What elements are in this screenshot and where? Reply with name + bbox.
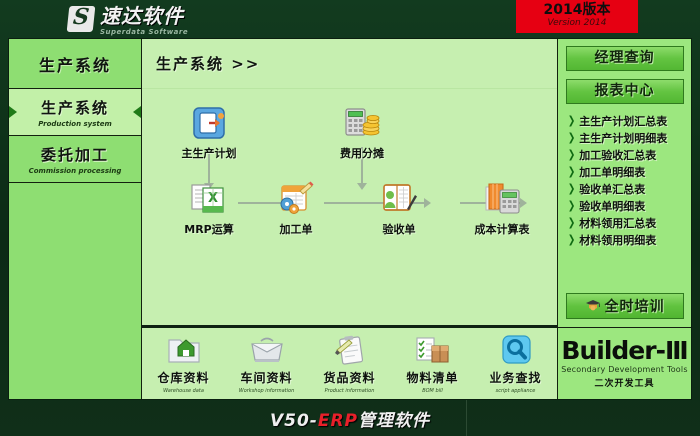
report-link-acceptance-detail[interactable]: ❯ 验收单明细表: [567, 197, 685, 214]
flow-node-label: 费用分摊: [320, 145, 404, 161]
flow-node-label: 主生产计划: [167, 145, 251, 161]
training-section: 全时培训: [558, 285, 691, 327]
sidebar: 生产系统 生产系统 Production system 委托加工 Commiss…: [9, 39, 142, 399]
builder-title: Builder-Ⅲ: [561, 338, 687, 364]
quick-item-label-en: BOM bill: [394, 388, 472, 394]
work-order-icon: [276, 179, 316, 219]
quick-item-label-en: Warehouse data: [145, 388, 223, 394]
flow-node-label: 加工单: [254, 221, 338, 237]
magnifier-search-icon: [498, 334, 534, 366]
bullet-icon: ❯: [568, 114, 575, 127]
sidebar-item-label-cn: 生产系统: [41, 97, 109, 118]
sidebar-header: 生产系统: [9, 39, 141, 89]
quick-access-bar: 仓库资料 Warehouse data 车间资料 Workshop inform…: [142, 325, 557, 399]
page-title: 生产系统 >>: [142, 39, 557, 89]
quick-item-label-cn: 车间资料: [228, 369, 306, 386]
content-area: 生产系统 >>: [142, 39, 558, 399]
quick-item-warehouse-data[interactable]: 仓库资料 Warehouse data: [145, 334, 223, 394]
product-name-suffix: 管理软件: [358, 411, 430, 431]
quick-item-workshop-information[interactable]: 车间资料 Workshop information: [228, 334, 306, 394]
quick-item-bom-bill[interactable]: 物料清单 BOM bill: [394, 334, 472, 394]
product-name-accent: ERP: [318, 411, 358, 431]
main-frame: 生产系统 生产系统 Production system 委托加工 Commiss…: [8, 38, 692, 400]
builder-promo[interactable]: Builder-Ⅲ Secondary Development Tools 二次…: [558, 327, 691, 399]
footer-bar: V50-ERP管理软件: [0, 400, 700, 436]
flow-node-master-production-plan[interactable]: 主生产计划: [167, 103, 251, 161]
selection-arrow-left-icon: [9, 106, 17, 118]
product-name-prefix: V50-: [270, 411, 318, 431]
plan-document-icon: [189, 103, 229, 143]
bullet-icon: ❯: [568, 131, 575, 144]
bullet-icon: ❯: [568, 199, 575, 212]
quick-item-business-search[interactable]: 业务查找 script appliance: [477, 334, 555, 394]
builder-subtitle-en: Secondary Development Tools: [561, 365, 687, 374]
sidebar-item-label-en: Production system: [38, 120, 112, 128]
sidebar-header-label: 生产系统: [39, 52, 111, 76]
report-link-label: 加工验收汇总表: [579, 147, 656, 163]
quick-item-product-information[interactable]: 货品资料 Product information: [311, 334, 389, 394]
quick-item-label-en: script appliance: [477, 388, 555, 394]
flow-node-acceptance-note[interactable]: 验收单: [357, 179, 441, 237]
logo-text-cn: 速达软件: [100, 6, 188, 26]
flow-node-work-order[interactable]: 加工单: [254, 179, 338, 237]
bullet-icon: ❯: [568, 148, 575, 161]
quick-item-label-cn: 仓库资料: [145, 369, 223, 386]
flow-node-label: 验收单: [357, 221, 441, 237]
report-link-material-requisition-detail[interactable]: ❯ 材料领用明细表: [567, 231, 685, 248]
sidebar-item-commission-processing[interactable]: 委托加工 Commission processing: [9, 136, 141, 183]
training-button-label: 全时培训: [605, 296, 665, 316]
workflow-diagram: 主生产计划: [142, 89, 557, 325]
cost-sheet-icon: [482, 179, 522, 219]
graduation-cap-icon: [585, 298, 601, 314]
right-panel: 经理查询 报表中心 ❯ 主生产计划汇总表 ❯ 主生产计划明细表 ❯ 加工验收汇总…: [558, 39, 691, 399]
flow-node-cost-sheet[interactable]: 成本计算表: [460, 179, 544, 237]
warehouse-folder-icon: [166, 334, 202, 366]
clipboard-pen-icon: [332, 334, 368, 366]
report-link-master-plan-summary[interactable]: ❯ 主生产计划汇总表: [567, 112, 685, 129]
app-logo: 速达软件 Superdata Software: [68, 6, 188, 36]
superdata-logo-icon: [67, 6, 96, 32]
version-label-en: Version 2014: [516, 18, 638, 29]
bullet-icon: ❯: [568, 233, 575, 246]
sidebar-item-label-cn: 委托加工: [41, 144, 109, 165]
version-label-cn: 2014版本: [516, 3, 638, 18]
report-link-label: 加工单明细表: [579, 164, 645, 180]
report-link-label: 验收单汇总表: [579, 181, 645, 197]
product-name: V50-ERP管理软件: [270, 406, 430, 431]
sidebar-item-production-system[interactable]: 生产系统 Production system: [9, 89, 141, 136]
flow-node-mrp-calculation[interactable]: X MRP运算: [167, 179, 251, 237]
report-list: ❯ 主生产计划汇总表 ❯ 主生产计划明细表 ❯ 加工验收汇总表 ❯ 加工单明细表: [564, 112, 685, 248]
report-link-processing-acceptance-summary[interactable]: ❯ 加工验收汇总表: [567, 146, 685, 163]
quick-item-label-cn: 业务查找: [477, 369, 555, 386]
bom-checklist-icon: [415, 334, 451, 366]
report-link-master-plan-detail[interactable]: ❯ 主生产计划明细表: [567, 129, 685, 146]
erp-home-screen: 速达软件 Superdata Software 2014版本 Version 2…: [0, 0, 700, 436]
quick-item-label-en: Product information: [311, 388, 389, 394]
logo-text-en: Superdata Software: [100, 28, 188, 36]
selection-arrow-right-icon: [133, 106, 141, 118]
report-link-label: 材料领用明细表: [579, 232, 656, 248]
flow-node-label: MRP运算: [167, 221, 251, 237]
flow-node-label: 成本计算表: [460, 221, 544, 237]
manager-query-button[interactable]: 经理查询: [566, 46, 684, 71]
page-title-label: 生产系统 >>: [156, 53, 260, 74]
report-link-label: 验收单明细表: [579, 198, 645, 214]
report-link-label: 主生产计划明细表: [579, 130, 667, 146]
report-link-work-order-detail[interactable]: ❯ 加工单明细表: [567, 163, 685, 180]
quick-item-label-en: Workshop information: [228, 388, 306, 394]
right-panel-top: 经理查询 报表中心 ❯ 主生产计划汇总表 ❯ 主生产计划明细表 ❯ 加工验收汇总…: [558, 39, 691, 285]
briefcase-icon: [249, 334, 285, 366]
calculator-coins-icon: [342, 103, 382, 143]
bullet-icon: ❯: [568, 216, 575, 229]
bullet-icon: ❯: [568, 182, 575, 195]
top-bar: 速达软件 Superdata Software 2014版本 Version 2…: [0, 0, 700, 38]
report-link-label: 材料领用汇总表: [579, 215, 656, 231]
quick-item-label-cn: 货品资料: [311, 369, 389, 386]
builder-subtitle-cn: 二次开发工具: [594, 376, 654, 389]
sidebar-item-label-en: Commission processing: [29, 167, 122, 175]
report-center-button[interactable]: 报表中心: [566, 79, 684, 104]
report-link-material-requisition-summary[interactable]: ❯ 材料领用汇总表: [567, 214, 685, 231]
acceptance-note-icon: [379, 179, 419, 219]
report-link-acceptance-summary[interactable]: ❯ 验收单汇总表: [567, 180, 685, 197]
quick-item-label-cn: 物料清单: [394, 369, 472, 386]
bullet-icon: ❯: [568, 165, 575, 178]
mrp-spreadsheet-icon: X: [189, 179, 229, 219]
flow-node-expense-allocation[interactable]: 费用分摊: [320, 103, 404, 161]
report-link-label: 主生产计划汇总表: [579, 113, 667, 129]
version-banner: 2014版本 Version 2014: [516, 0, 638, 33]
full-time-training-button[interactable]: 全时培训: [566, 293, 684, 319]
